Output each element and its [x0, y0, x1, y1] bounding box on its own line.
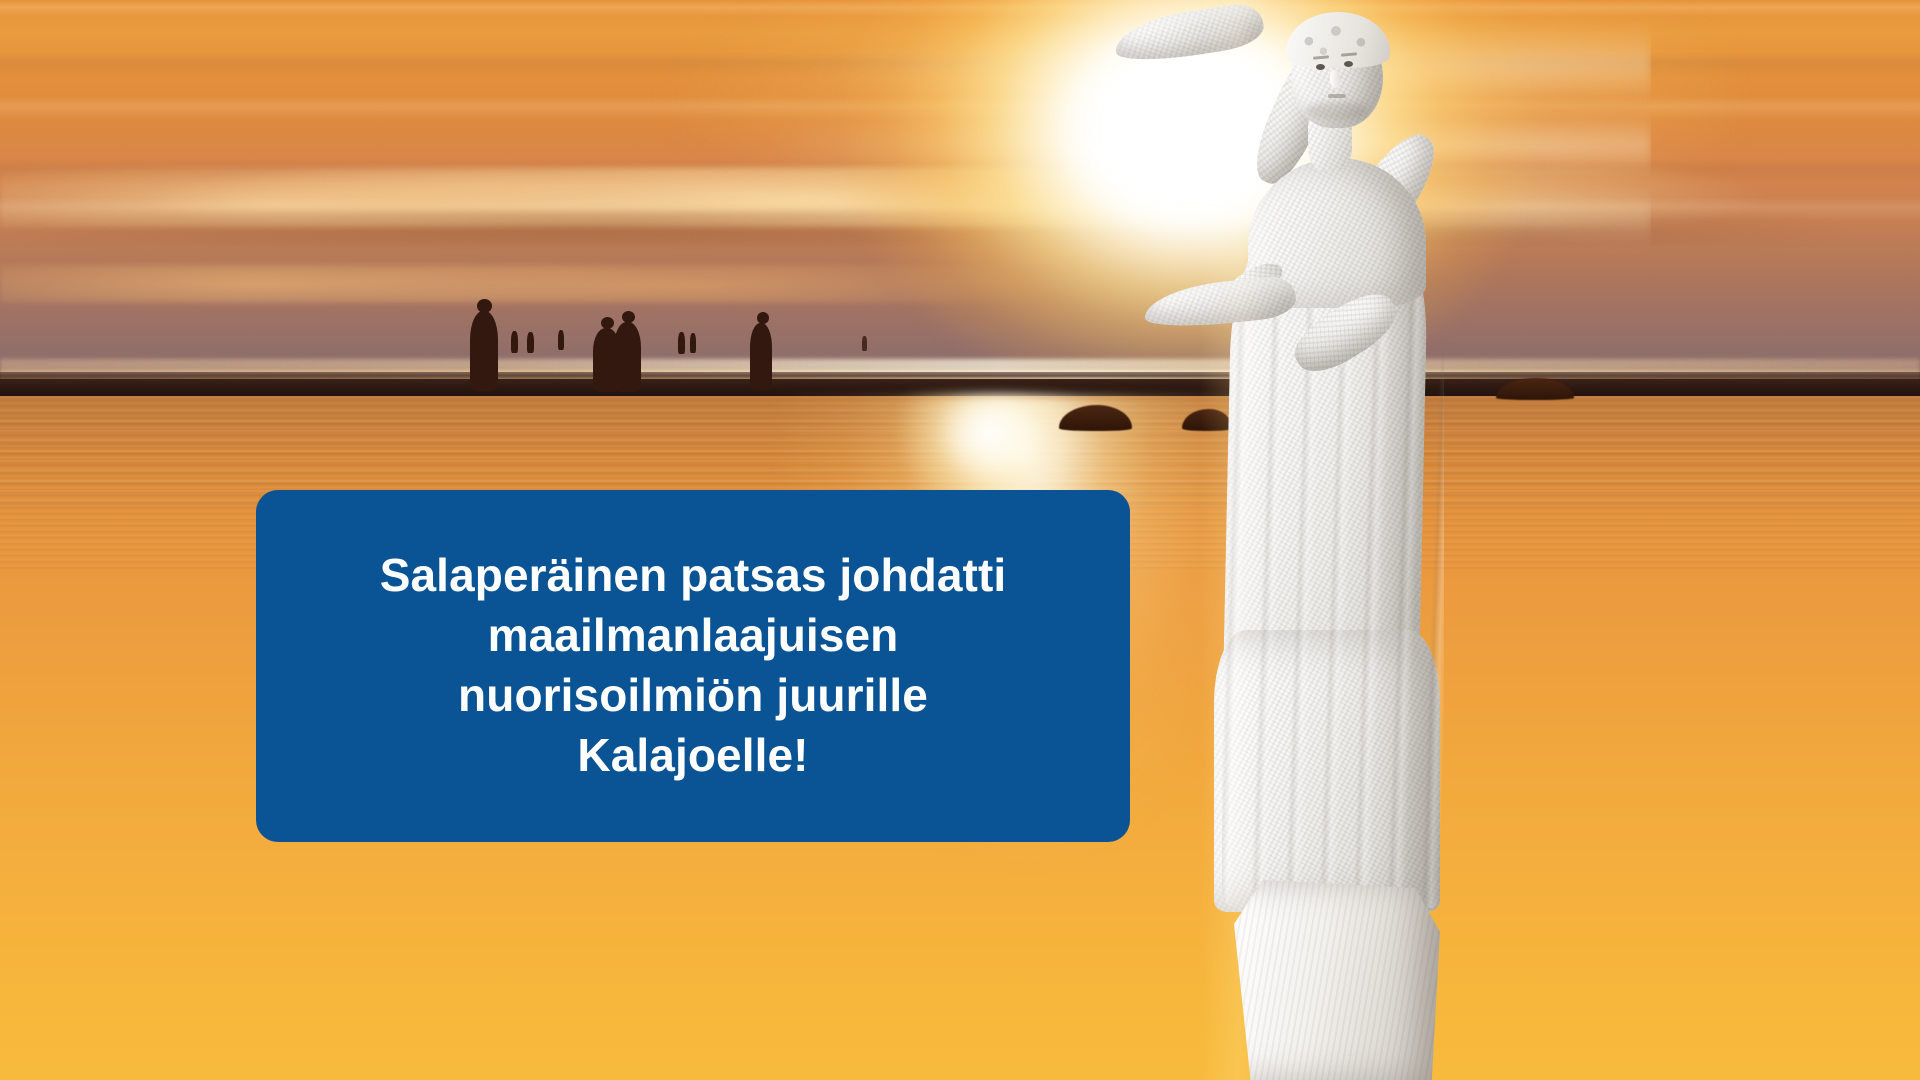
caption-card: Salaperäinen patsas johdatti maailmanlaa…: [256, 490, 1130, 842]
person-distant: [862, 336, 867, 351]
person-distant: [527, 332, 534, 353]
person-distant: [511, 331, 518, 353]
bank-shadow: [0, 379, 1920, 396]
person-distant: [558, 330, 564, 350]
person-distant: [678, 332, 685, 354]
caption-headline: Salaperäinen patsas johdatti maailmanlaa…: [380, 546, 1007, 785]
banner-image: Salaperäinen patsas johdatti maailmanlaa…: [0, 0, 1920, 1080]
person-body: [750, 323, 772, 390]
person-distant: [690, 333, 696, 353]
person-body: [614, 322, 641, 392]
person-body: [470, 311, 498, 391]
